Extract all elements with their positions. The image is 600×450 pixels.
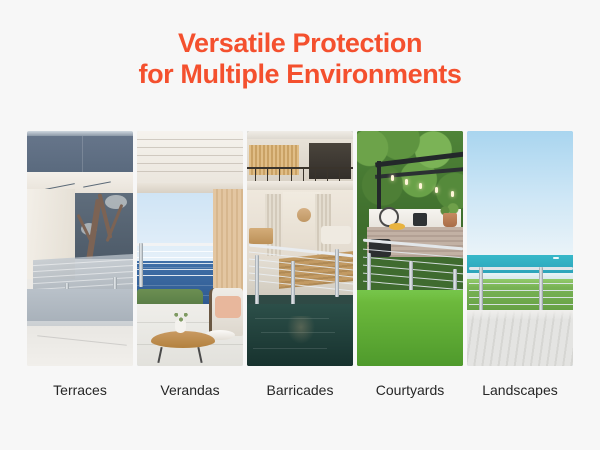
label-landscapes: Landscapes <box>467 380 573 400</box>
veranda-photo <box>137 131 243 366</box>
environment-card-courtyards[interactable] <box>357 131 463 366</box>
label-verandas: Verandas <box>137 380 243 400</box>
environment-card-barricades[interactable] <box>247 131 353 366</box>
page-title-line-2: for Multiple Environments <box>0 59 600 90</box>
environment-card-terraces[interactable] <box>27 131 133 366</box>
label-courtyards: Courtyards <box>357 380 463 400</box>
environment-card-verandas[interactable] <box>137 131 243 366</box>
barricade-photo <box>247 131 353 366</box>
environment-label-row: Terraces Verandas Barricades Courtyards … <box>27 380 573 400</box>
label-barricades: Barricades <box>247 380 353 400</box>
environment-card-landscapes[interactable] <box>467 131 573 366</box>
page-title-line-1: Versatile Protection <box>0 28 600 59</box>
environment-card-strip <box>27 131 573 366</box>
promo-banner: Versatile Protection for Multiple Enviro… <box>0 0 600 450</box>
page-title: Versatile Protection for Multiple Enviro… <box>0 28 600 90</box>
landscape-photo <box>467 131 573 366</box>
courtyard-photo <box>357 131 463 366</box>
label-terraces: Terraces <box>27 380 133 400</box>
terrace-photo <box>27 131 133 366</box>
